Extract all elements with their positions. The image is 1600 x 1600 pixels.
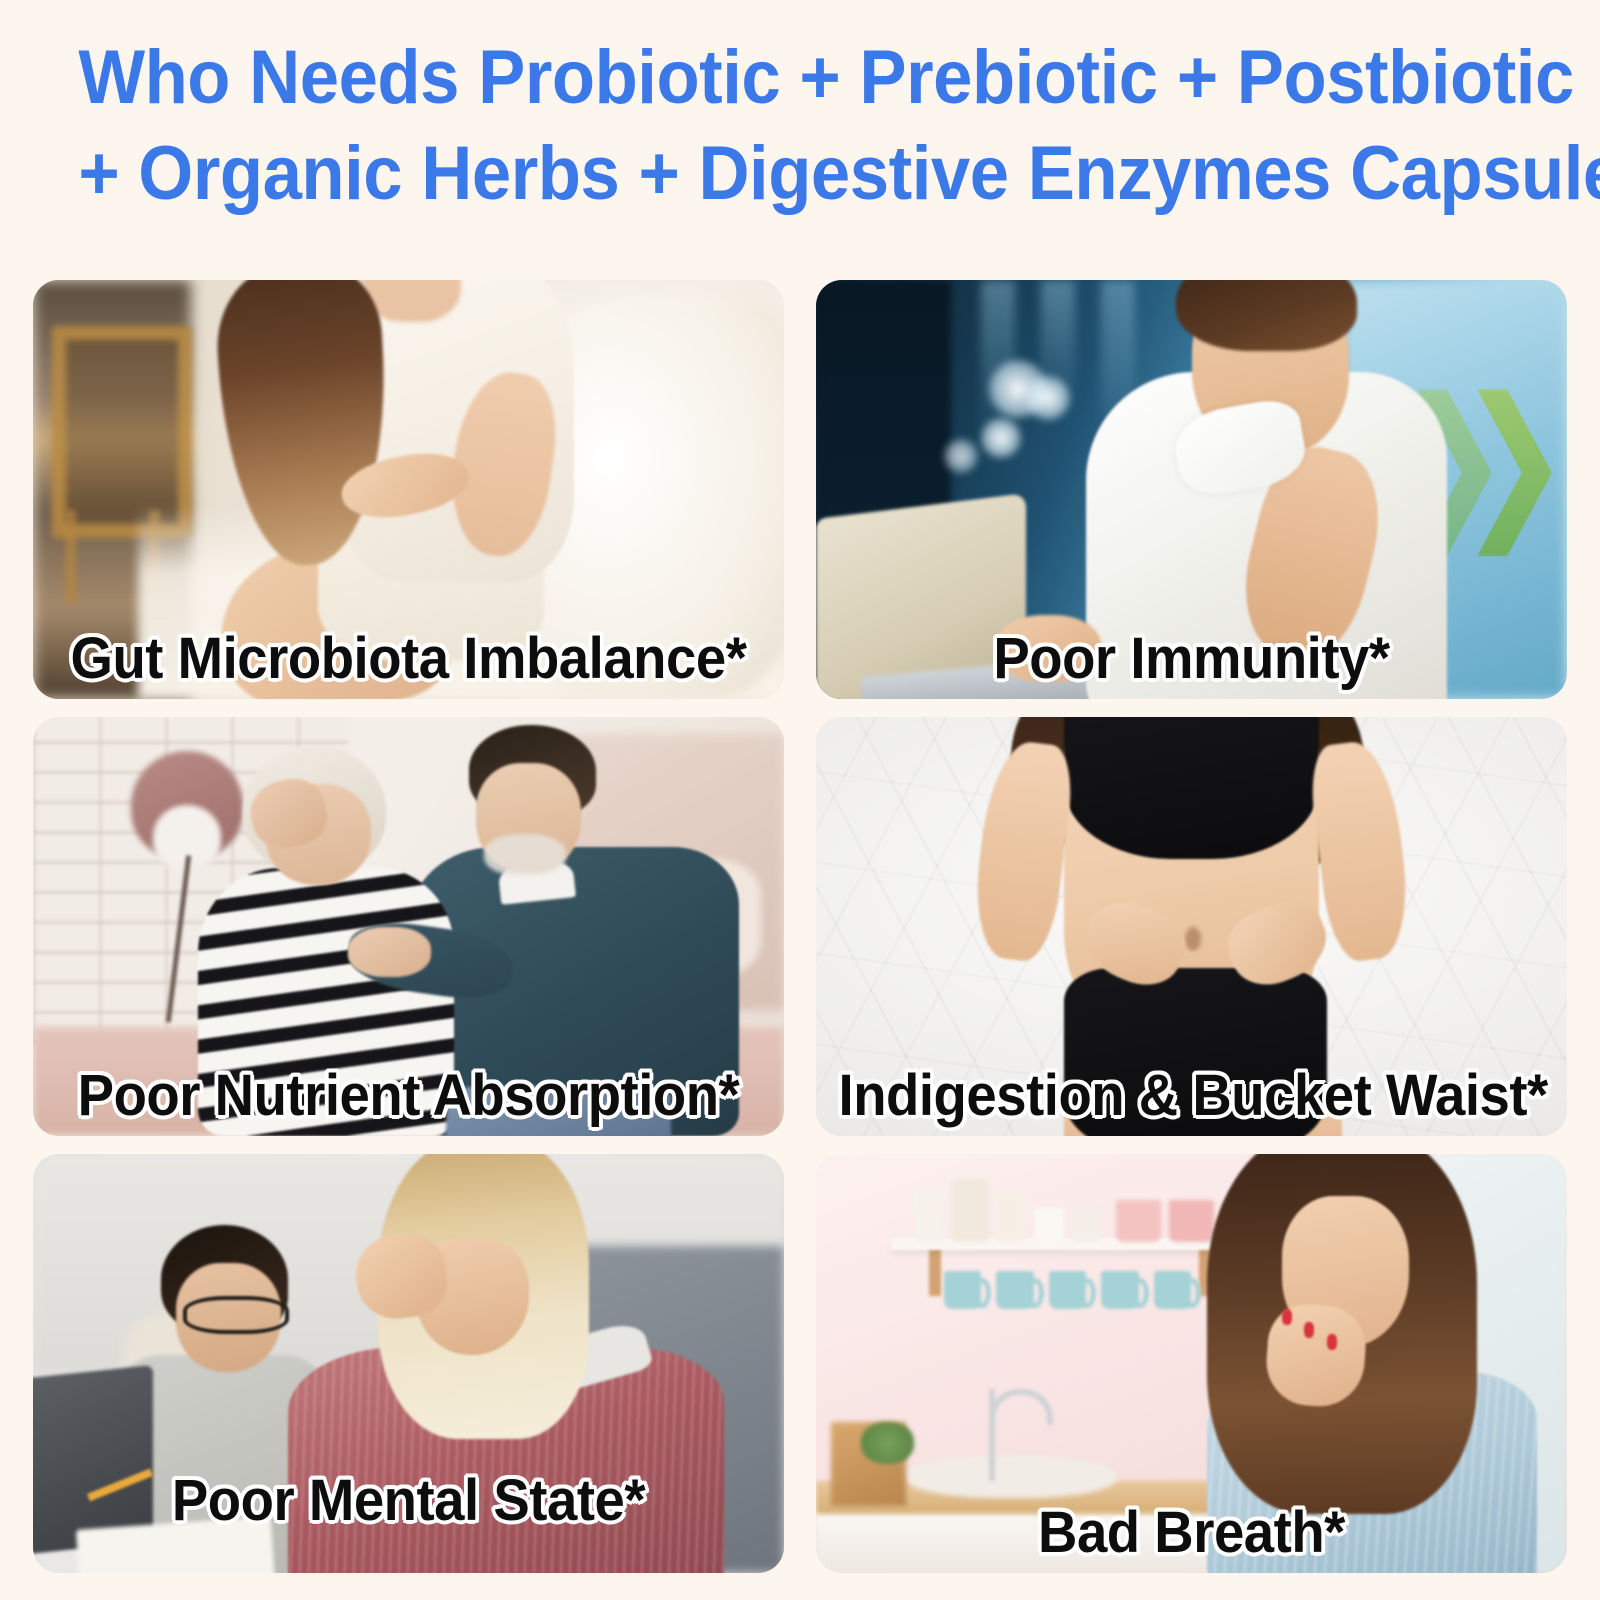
glass-jar [914, 1188, 944, 1242]
man-hair [1176, 280, 1356, 351]
symptom-card-poor-immunity[interactable]: Poor Immunity* [816, 280, 1567, 699]
symptom-card-grid: Gut Microbiota Imbalance* [33, 280, 1567, 1572]
red-nail [1282, 1309, 1292, 1325]
page-title-line-2: + Organic Herbs + Digestive Enzymes Caps… [78, 126, 1521, 222]
symptom-card-caption: Poor Nutrient Absorption* [56, 1064, 762, 1128]
page-title: Who Needs Probiotic + Prebiotic + Postbi… [0, 0, 1600, 222]
shelf-bracket [929, 1242, 941, 1296]
hanging-mug [1154, 1271, 1192, 1309]
red-nail [1304, 1322, 1314, 1338]
man-beard [484, 834, 567, 876]
hanging-mug [944, 1271, 982, 1309]
eyeglasses-icon [183, 1296, 289, 1333]
shelf-cup [1169, 1200, 1214, 1242]
shelf-cup [1034, 1208, 1064, 1242]
symptom-card-caption: Bad Breath* [839, 1501, 1545, 1565]
shelf-cup [1116, 1200, 1161, 1242]
infographic-page: Who Needs Probiotic + Prebiotic + Postbi… [0, 0, 1600, 1600]
hanging-mug [1049, 1271, 1087, 1309]
symptom-card-gut-microbiota-imbalance[interactable]: Gut Microbiota Imbalance* [33, 280, 784, 699]
symptom-card-caption: Poor Immunity* [839, 627, 1545, 691]
black-sports-bra [1064, 717, 1319, 859]
page-title-line-1: Who Needs Probiotic + Prebiotic + Postbi… [78, 30, 1521, 126]
hanging-mug [1101, 1271, 1139, 1309]
symptom-card-caption: Indigestion & Bucket Waist* [839, 1064, 1545, 1128]
symptom-card-indigestion-bucket-waist[interactable]: Indigestion & Bucket Waist* [816, 717, 1567, 1136]
bokeh-light [1026, 376, 1070, 420]
bokeh-light [944, 439, 978, 473]
glass-jar [951, 1179, 989, 1242]
symptom-card-poor-mental-state[interactable]: Poor Mental State* [33, 1154, 784, 1573]
bokeh-light [981, 418, 1021, 458]
small-plant [861, 1422, 914, 1464]
furniture-leg [65, 510, 76, 602]
red-nail [1327, 1334, 1337, 1350]
man-hand-on-shoulder [348, 927, 431, 977]
hanging-mug [996, 1271, 1034, 1309]
kitchen-sink [906, 1456, 1116, 1498]
shelf-cup [1071, 1208, 1101, 1242]
symptom-card-poor-nutrient-absorption[interactable]: Poor Nutrient Absorption* [33, 717, 784, 1136]
faucet-icon [989, 1389, 995, 1481]
glass-jar [996, 1192, 1026, 1242]
symptom-card-caption: Gut Microbiota Imbalance* [56, 627, 762, 691]
symptom-card-caption: Poor Mental State* [56, 1469, 762, 1533]
symptom-card-bad-breath[interactable]: Bad Breath* [816, 1154, 1567, 1573]
